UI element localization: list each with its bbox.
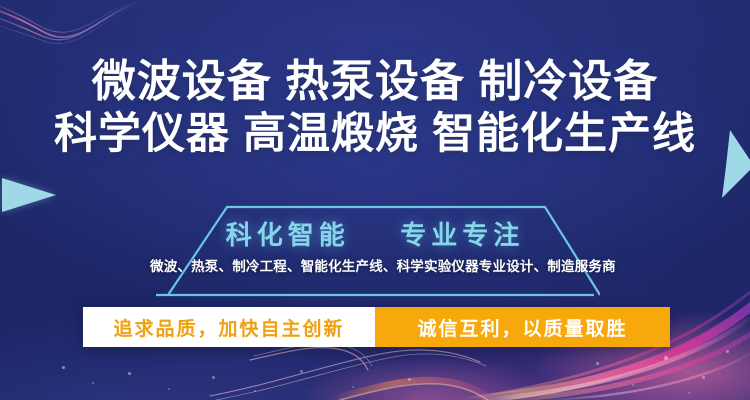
promo-banner: 微波设备 热泵设备 制冷设备 科学仪器 高温煅烧 智能化生产线 科化智能 专业专…	[0, 0, 750, 400]
left-triangle-arrow-icon	[2, 178, 56, 212]
panel-title: 科化智能 专业专注	[150, 218, 600, 252]
page-title: 微波设备 热泵设备 制冷设备 科学仪器 高温煅烧 智能化生产线	[0, 56, 750, 160]
panel-title-left: 科化智能	[226, 220, 350, 250]
panel-title-right: 专业专注	[400, 220, 524, 250]
slogan-bar-group: 追求品质，加快自主创新 诚信互利，以质量取胜	[83, 307, 670, 347]
panel-subtitle: 微波、热泵、制冷工程、智能化生产线、科学实验仪器专业设计、制造服务商	[150, 258, 600, 276]
feature-panel: 科化智能 专业专注 微波、热泵、制冷工程、智能化生产线、科学实验仪器专业设计、制…	[150, 200, 600, 298]
headline-line-1: 微波设备 热泵设备 制冷设备	[0, 56, 750, 108]
slogan-left[interactable]: 追求品质，加快自主创新	[83, 307, 375, 347]
slogan-right[interactable]: 诚信互利，以质量取胜	[375, 307, 670, 347]
headline-line-2: 科学仪器 高温煅烧 智能化生产线	[0, 108, 750, 160]
